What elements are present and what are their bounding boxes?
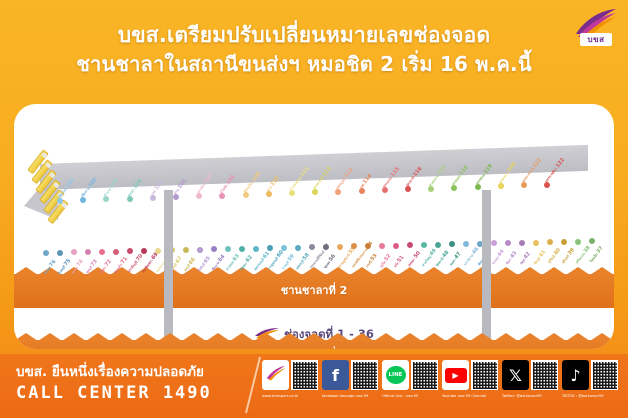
bay-marker-38 (575, 239, 581, 245)
platform-1-canopy: ชานชาลาที่ 1 (14, 340, 614, 349)
page-title: บขส.เตรียมปรับเปลี่ยนหมายเลขช่องจอด ชานช… (34, 20, 574, 78)
footer-brand-block: บขส. ยืนหนึ่งเรื่องความปลอดภัย CALL CENT… (16, 362, 256, 404)
platform-2-canopy: ชานชาลาที่ 2 (14, 274, 614, 308)
bay-marker-66 (183, 247, 189, 253)
bay-marker-37 (589, 238, 595, 244)
bay-marker-51 (393, 243, 399, 249)
qr-code[interactable] (411, 360, 438, 390)
bay-marker-52 (379, 243, 385, 249)
bay-marker-68 (155, 248, 161, 254)
bay-label-65: สิงห์บุรี 65 (196, 255, 212, 273)
infographic-page: บขส.เตรียมปรับเปลี่ยนหมายเลขช่องจอด ชานช… (0, 0, 628, 418)
support-column (164, 190, 173, 340)
social-caption: facebook fanpage บขส.99 (322, 394, 379, 399)
social-links-strip: www.transport.co.thffacebook fanpage บขส… (262, 360, 622, 414)
bay-label-63: อ่างทอง 63 (224, 253, 240, 272)
bay-label-40: บุรีรัมย์ 40 (546, 248, 562, 266)
facebook-icon[interactable]: f (322, 360, 349, 390)
facebook-social-item[interactable]: ffacebook fanpage บขส.99 (322, 360, 379, 414)
bay-marker-57 (309, 244, 315, 250)
bay-marker-59 (281, 245, 287, 251)
website-icon[interactable] (262, 360, 289, 390)
x-twitter-social-item[interactable]: 𝕏Twitter: @borkorsor99 (502, 360, 559, 414)
website-social-item[interactable]: www.transport.co.th (262, 360, 319, 414)
bay-marker-60 (267, 245, 273, 251)
bay-marker-39 (561, 239, 567, 245)
qr-code[interactable] (291, 360, 318, 390)
social-caption: www.transport.co.th (262, 394, 319, 399)
bay-marker-42 (519, 240, 525, 246)
qr-code[interactable] (591, 360, 618, 390)
bay-label-53: กระบี่ 53 (364, 253, 378, 269)
line-social-item[interactable]: LINEOfficial line : บขส.99 (382, 360, 439, 414)
social-caption: Twitter: @borkorsor99 (502, 394, 559, 399)
bay-label-42: สตูล 42 (518, 251, 531, 266)
support-column (482, 190, 491, 340)
bay-marker-71 (113, 249, 119, 255)
bay-marker-43 (505, 240, 511, 246)
bay-marker-58 (295, 245, 301, 251)
bay-marker-62 (239, 246, 245, 252)
tiktok-icon[interactable]: ♪ (562, 360, 589, 390)
bay-marker-49 (421, 242, 427, 248)
bay-marker-63 (225, 246, 231, 252)
bay-label-43: พังงา 43 (504, 250, 518, 266)
youtube-icon[interactable]: ▶ (442, 360, 469, 390)
social-caption: TIKTOK : @borkorsor99 (562, 394, 619, 399)
social-caption: Youtube บขส.99 Channel (442, 394, 499, 399)
bay-label-52: ภูเก็ต 52 (378, 253, 392, 269)
bks-logo-text: บขส (580, 33, 612, 46)
footer-tagline: บขส. ยืนหนึ่งเรื่องความปลอดภัย (16, 362, 256, 382)
bay-marker-75 (57, 250, 63, 256)
bay-marker-44 (491, 240, 497, 246)
bay-label-39: สุรินทร์ 39 (560, 247, 576, 265)
bay-marker-74 (71, 249, 77, 255)
bay-marker-61 (253, 246, 259, 252)
call-center-number: CALL CENTER 1490 (16, 382, 256, 404)
bay-marker-50 (407, 242, 413, 248)
bay-marker-47 (449, 241, 455, 247)
bay-marker-73 (85, 249, 91, 255)
title-line-1: บขส.เตรียมปรับเปลี่ยนหมายเลขช่องจอด (34, 20, 574, 50)
bay-label-51: ตรัง 51 (392, 254, 405, 268)
bay-marker-70 (127, 248, 133, 254)
bay-marker-64 (211, 246, 217, 252)
bay-label-50: สงขลา 50 (406, 251, 422, 269)
bay-marker-56 (323, 244, 329, 250)
header-banner: บขส.เตรียมปรับเปลี่ยนหมายเลขช่องจอด ชานช… (0, 0, 628, 104)
footer-bar: บขส. ยืนหนึ่งเรื่องความปลอดภัย CALL CENT… (0, 354, 628, 418)
youtube-social-item[interactable]: ▶Youtube บขส.99 Channel (442, 360, 499, 414)
bay-marker-40 (547, 239, 553, 245)
x-twitter-icon[interactable]: 𝕏 (502, 360, 529, 390)
bay-marker-65 (197, 247, 203, 253)
bks-logo: บขส (574, 8, 618, 48)
bay-label-58: เพชรบุรี 58 (294, 252, 310, 271)
bay-label-56: ชุมพร 56 (322, 253, 337, 270)
bay-marker-76 (43, 250, 49, 256)
bay-marker-41 (533, 240, 539, 246)
bay-marker-69 (141, 248, 147, 254)
qr-code[interactable] (471, 360, 498, 390)
platform-1-caption: ชานชาลาที่ 1 (14, 345, 614, 349)
tiktok-social-item[interactable]: ♪TIKTOK : @borkorsor99 (562, 360, 619, 414)
social-caption: Official line : บขส.99 (382, 394, 439, 399)
bay-marker-46 (463, 241, 469, 247)
bay-marker-48 (435, 242, 441, 248)
bay-marker-55 (337, 244, 343, 250)
line-icon[interactable]: LINE (382, 360, 409, 390)
bay-label-47: ยะลา 47 (448, 251, 462, 267)
terminal-diagram-card: เชียงใหม่ 101เชียงราย 102ลำปาง 103พะเยา … (14, 104, 614, 349)
platform-2-caption: ชานชาลาที่ 2 (14, 281, 614, 299)
qr-code[interactable] (351, 360, 378, 390)
bay-label-41: ชัยภูมิ 41 (532, 249, 547, 266)
bay-label-44: ระนอง 44 (490, 249, 505, 266)
qr-code[interactable] (531, 360, 558, 390)
bay-marker-72 (99, 249, 105, 255)
title-line-2: ชานชาลาในสถานีขนส่งฯ หมอชิต 2 เริ่ม 16 พ… (34, 50, 574, 78)
